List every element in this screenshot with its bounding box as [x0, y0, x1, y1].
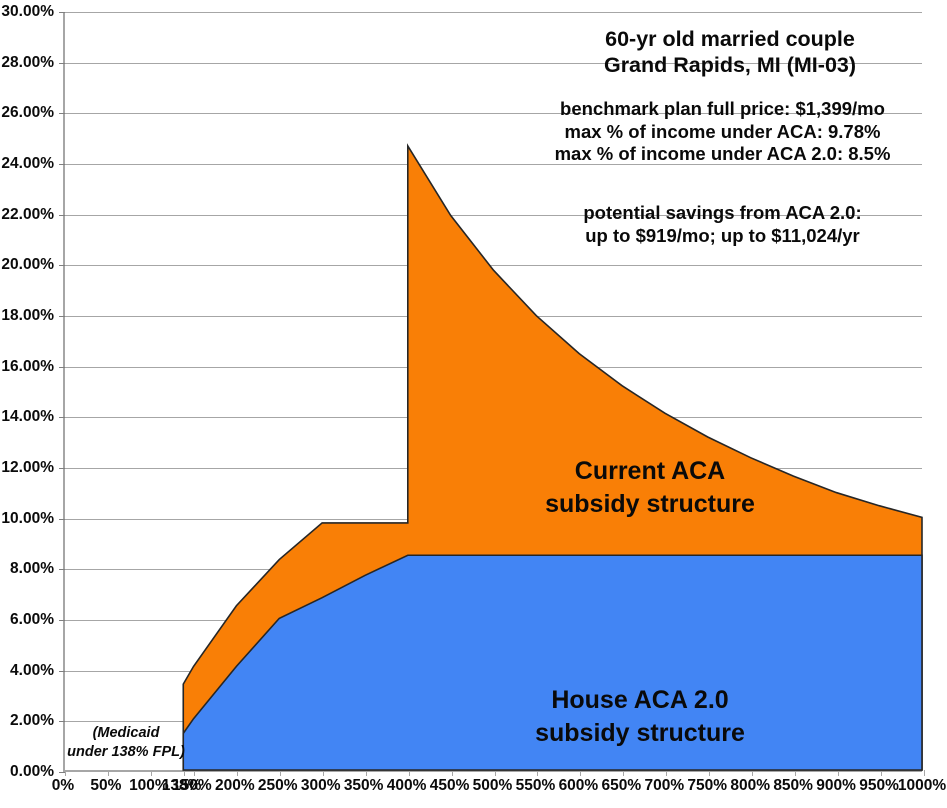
chart-title: 60-yr old married couple Grand Rapids, M…	[520, 26, 940, 78]
x-tick-mark	[580, 770, 581, 776]
x-axis-tick-label: 250%	[258, 777, 298, 795]
y-axis-tick-label: 6.00%	[10, 611, 54, 629]
x-axis-tick-label: 550%	[516, 777, 556, 795]
x-tick-mark	[237, 770, 238, 776]
x-tick-mark	[366, 770, 367, 776]
x-axis-tick-label: 400%	[387, 777, 427, 795]
series-label-house-aca: House ACA 2.0 subsidy structure	[485, 684, 795, 749]
y-axis-tick-label: 18.00%	[1, 307, 54, 325]
x-tick-mark	[65, 770, 66, 776]
x-tick-mark	[194, 770, 195, 776]
y-axis-tick-label: 20.00%	[1, 256, 54, 274]
x-axis-tick-label: 150%	[172, 777, 212, 795]
x-tick-mark	[623, 770, 624, 776]
x-tick-mark	[323, 770, 324, 776]
x-tick-mark	[184, 770, 185, 776]
annotation-plan-facts: benchmark plan full price: $1,399/mo max…	[505, 98, 940, 166]
chart-page: 0.00%2.00%4.00%6.00%8.00%10.00%12.00%14.…	[0, 0, 947, 808]
y-axis-tick-label: 22.00%	[1, 206, 54, 224]
x-tick-mark	[881, 770, 882, 776]
y-axis-tick-label: 2.00%	[10, 712, 54, 730]
x-axis-tick-label: 1000%	[898, 777, 946, 795]
x-axis-tick-label: 350%	[344, 777, 384, 795]
y-axis-tick-label: 16.00%	[1, 358, 54, 376]
x-tick-mark	[752, 770, 753, 776]
x-axis-tick-label: 450%	[430, 777, 470, 795]
x-tick-mark	[537, 770, 538, 776]
x-axis-tick-label: 600%	[559, 777, 599, 795]
y-axis-tick-label: 24.00%	[1, 155, 54, 173]
y-axis-tick-label: 26.00%	[1, 104, 54, 122]
x-tick-mark	[924, 770, 925, 776]
x-tick-mark	[452, 770, 453, 776]
x-tick-mark	[495, 770, 496, 776]
y-axis-tick-label: 14.00%	[1, 408, 54, 426]
x-tick-mark	[838, 770, 839, 776]
x-axis-tick-label: 200%	[215, 777, 255, 795]
annotation-potential-savings: potential savings from ACA 2.0: up to $9…	[505, 202, 940, 247]
x-tick-mark	[795, 770, 796, 776]
y-axis-tick-label: 10.00%	[1, 510, 54, 528]
x-axis-tick-label: 700%	[644, 777, 684, 795]
y-axis-tick-label: 8.00%	[10, 560, 54, 578]
x-axis-tick-label: 0%	[52, 777, 74, 795]
x-tick-mark	[108, 770, 109, 776]
x-tick-mark	[666, 770, 667, 776]
x-tick-mark	[709, 770, 710, 776]
x-axis-tick-label: 50%	[90, 777, 121, 795]
x-axis-labels: 0%50%100%138%150%200%250%300%350%400%450…	[63, 777, 922, 803]
annotation-medicaid-note: (Medicaid under 138% FPL)	[60, 724, 192, 761]
x-tick-mark	[409, 770, 410, 776]
x-axis-tick-label: 850%	[773, 777, 813, 795]
x-axis-tick-label: 950%	[859, 777, 899, 795]
y-axis-tick-label: 30.00%	[1, 3, 54, 21]
y-axis-tick-label: 4.00%	[10, 662, 54, 680]
x-axis-tick-label: 750%	[687, 777, 727, 795]
x-axis-tick-label: 500%	[473, 777, 513, 795]
series-label-current-aca: Current ACA subsidy structure	[495, 455, 805, 520]
x-axis-tick-label: 800%	[730, 777, 770, 795]
x-tick-mark	[151, 770, 152, 776]
x-axis-tick-label: 300%	[301, 777, 341, 795]
y-axis-tick-label: 28.00%	[1, 54, 54, 72]
x-axis-tick-label: 900%	[816, 777, 856, 795]
x-axis-tick-label: 650%	[602, 777, 642, 795]
x-tick-mark	[280, 770, 281, 776]
y-axis-tick-label: 12.00%	[1, 459, 54, 477]
y-axis-tick-label: 0.00%	[10, 763, 54, 781]
